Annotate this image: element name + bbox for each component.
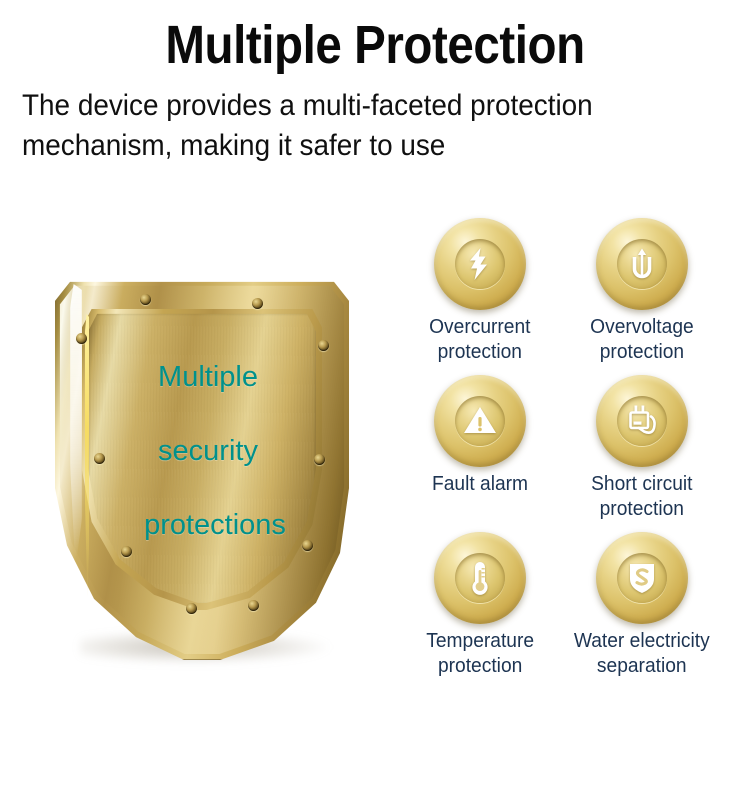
feature-label-line-1: Fault alarm xyxy=(432,472,528,497)
badge-water-electricity-separation xyxy=(596,532,688,624)
feature-label-line-1: Overcurrent xyxy=(429,315,530,340)
badge-fault-alarm xyxy=(434,375,526,467)
page-title: Multiple Protection xyxy=(45,14,705,76)
shield-rivet xyxy=(140,294,151,305)
feature-label-line-2: protection xyxy=(426,654,534,679)
lightning-bolt-icon xyxy=(460,244,500,284)
power-plug-icon xyxy=(622,401,662,441)
feature-fault-alarm[interactable]: Fault alarm xyxy=(404,375,556,522)
feature-overcurrent-protection[interactable]: Overcurrent protection xyxy=(404,218,556,365)
shield-rivet xyxy=(252,298,263,309)
feature-label-line-1: Water electricity xyxy=(574,629,710,654)
shield-caption-line-3: protections xyxy=(112,488,318,562)
shield-rivet xyxy=(248,600,259,611)
badge-temperature xyxy=(434,532,526,624)
feature-label-overvoltage: Overvoltage protection xyxy=(590,315,694,365)
shield-caption-line-1: Multiple xyxy=(98,340,318,414)
badge-overcurrent xyxy=(434,218,526,310)
badge-short-circuit xyxy=(596,375,688,467)
protection-feature-grid: Overcurrent protection Overvoltage prote… xyxy=(392,218,750,679)
shield-caption: Multiple security protections xyxy=(98,340,318,562)
shield-caption-line-2: security xyxy=(98,414,318,488)
feature-label-line-2: protection xyxy=(591,497,692,522)
feature-water-electricity-separation[interactable]: Water electricity separation xyxy=(566,532,718,679)
feature-label-line-1: Overvoltage xyxy=(590,315,694,340)
feature-label-line-2: separation xyxy=(574,654,710,679)
feature-temperature-protection[interactable]: Temperature protection xyxy=(404,532,556,679)
feature-label-temperature: Temperature protection xyxy=(426,629,534,679)
shield-rivet xyxy=(76,333,87,344)
feature-label-line-1: Temperature xyxy=(426,629,534,654)
feature-label-fault-alarm: Fault alarm xyxy=(432,472,528,497)
thermometer-icon xyxy=(460,558,500,598)
feature-label-line-2: protection xyxy=(429,340,530,365)
shield-rivet xyxy=(186,603,197,614)
feature-label-short-circuit: Short circuit protection xyxy=(591,472,692,522)
header: Multiple Protection The device provides … xyxy=(0,0,750,166)
feature-overvoltage-protection[interactable]: Overvoltage protection xyxy=(566,218,718,365)
feature-label-line-1: Short circuit xyxy=(591,472,692,497)
feature-label-line-2: protection xyxy=(590,340,694,365)
feature-short-circuit-protection[interactable]: Short circuit protection xyxy=(566,375,718,522)
shield-rivet xyxy=(318,340,329,351)
badge-overvoltage xyxy=(596,218,688,310)
page-subtitle: The device provides a multi-faceted prot… xyxy=(22,86,617,166)
warning-triangle-icon xyxy=(460,401,500,441)
feature-label-overcurrent: Overcurrent protection xyxy=(429,315,530,365)
feature-label-water-electricity: Water electricity separation xyxy=(574,629,710,679)
voltage-up-arrow-icon xyxy=(622,244,662,284)
shield-s-icon xyxy=(622,558,662,598)
shield-graphic: Multiple security protections xyxy=(52,278,352,678)
